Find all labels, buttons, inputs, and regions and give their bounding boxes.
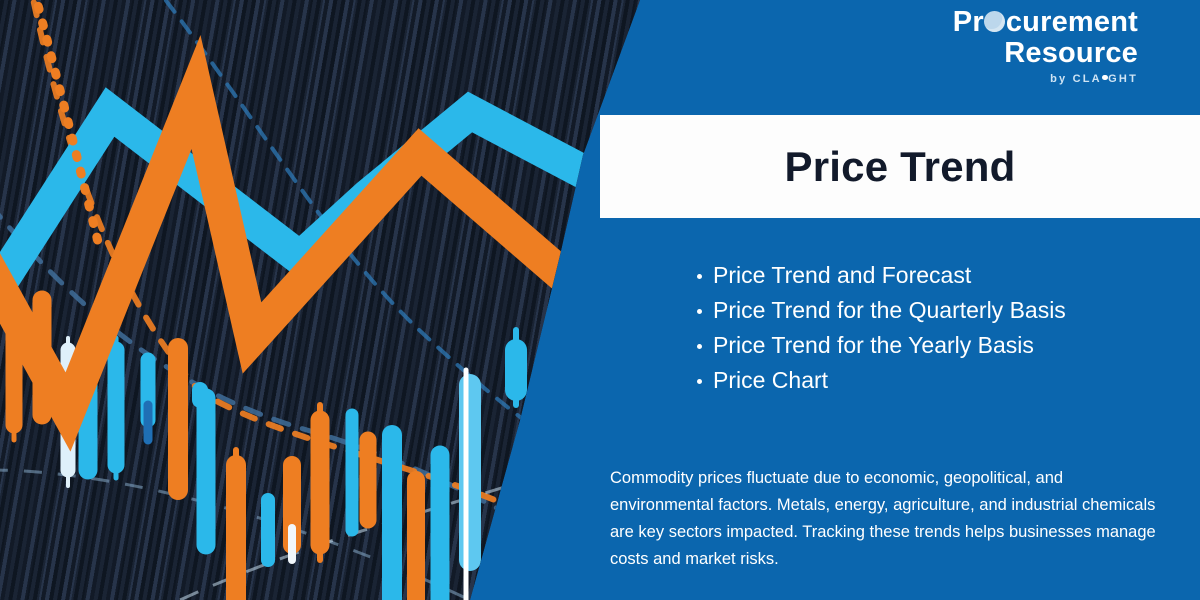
brand-logo-line1: Prcurement [908, 8, 1138, 37]
brand-logo-line1-post: curement [1006, 6, 1138, 38]
topic-list: Price Trend and Forecast Price Trend for… [697, 258, 1167, 398]
brand-logo[interactable]: Prcurement Resource by CLAGHT [908, 8, 1138, 85]
chart-artwork-svg [0, 0, 700, 600]
list-item[interactable]: Price Chart [697, 363, 1167, 398]
page-title: Price Trend [785, 143, 1016, 191]
list-item[interactable]: Price Trend for the Yearly Basis [697, 328, 1167, 363]
globe-o-icon [984, 11, 1005, 32]
brand-logo-tagline: by CLAGHT [908, 74, 1138, 85]
brand-logo-line1-pre: Pr [953, 6, 984, 38]
list-item[interactable]: Price Trend for the Quarterly Basis [697, 293, 1167, 328]
claight-dot-icon [1102, 75, 1108, 81]
title-band: Price Trend [600, 115, 1200, 218]
description-paragraph: Commodity prices fluctuate due to econom… [610, 465, 1162, 573]
brand-tagline-pre: by CLA [1050, 73, 1102, 85]
brand-tagline-post: GHT [1108, 73, 1138, 85]
brand-logo-line2: Resource [908, 39, 1138, 68]
financial-chart-graphic [0, 0, 700, 600]
list-item[interactable]: Price Trend and Forecast [697, 258, 1167, 293]
price-trend-poster: Prcurement Resource by CLAGHT Price Tren… [0, 0, 1200, 600]
